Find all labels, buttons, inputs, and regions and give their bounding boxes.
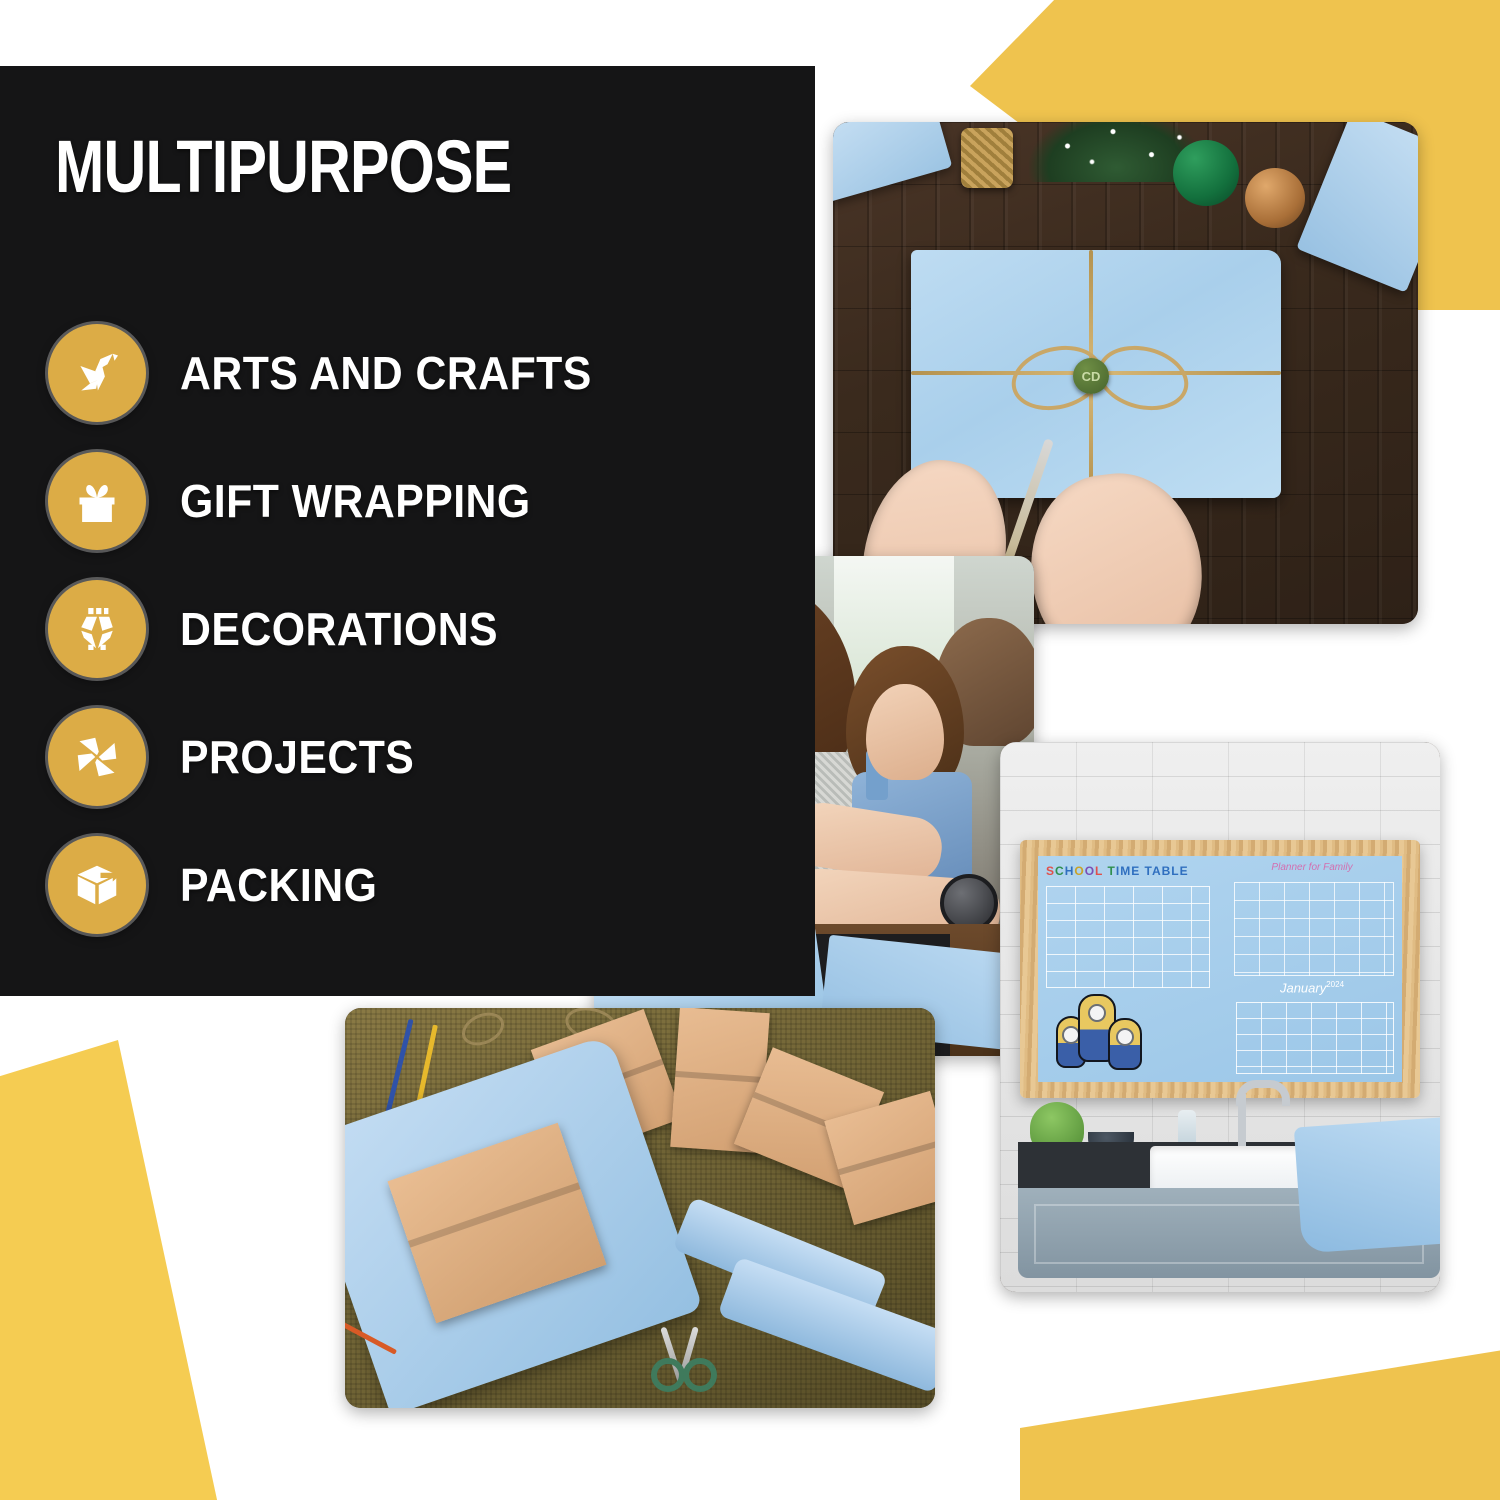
calendar-grid bbox=[1236, 1002, 1394, 1074]
gift-box-icon bbox=[69, 473, 125, 529]
feature-item-arts-and-crafts[interactable]: ARTS AND CRAFTS bbox=[48, 319, 788, 427]
feature-label: GIFT WRAPPING bbox=[180, 474, 531, 528]
pinwheel-badge bbox=[48, 708, 146, 806]
scissors-icon bbox=[641, 1326, 721, 1390]
origami-crane-badge bbox=[48, 324, 146, 422]
calendar-year: 2024 bbox=[1326, 980, 1344, 989]
timetable-half: SCHOOL TIME TABLE bbox=[1038, 856, 1218, 1082]
timetable-grid bbox=[1046, 886, 1210, 988]
feature-label: ARTS AND CRAFTS bbox=[180, 346, 592, 400]
feature-label: DECORATIONS bbox=[180, 602, 498, 656]
packing-photo bbox=[345, 1008, 935, 1408]
planner-title: Planner for Family bbox=[1271, 862, 1352, 873]
minion-small-right bbox=[1108, 1018, 1142, 1070]
gift-box-badge bbox=[48, 452, 146, 550]
school-timetable-title: SCHOOL TIME TABLE bbox=[1046, 864, 1189, 878]
planner-grid bbox=[1234, 882, 1394, 976]
whiteboard-surface: SCHOOL TIME TABLE Planner for Family bbox=[1038, 856, 1402, 1082]
feature-panel: MULTIPURPOSE ARTS AND CRAFTS bbox=[0, 66, 815, 996]
feature-label: PROJECTS bbox=[180, 730, 414, 784]
kitchen-whiteboard-photo: SCHOOL TIME TABLE Planner for Family bbox=[1000, 742, 1440, 1292]
minion-eye bbox=[1116, 1028, 1134, 1046]
wax-seal: CD bbox=[1073, 358, 1109, 394]
scissors-ring-right bbox=[683, 1358, 717, 1392]
scissors-ring-left bbox=[651, 1358, 685, 1392]
wood-frame: SCHOOL TIME TABLE Planner for Family bbox=[1020, 840, 1420, 1098]
green-ornament-ball bbox=[1173, 140, 1239, 206]
feature-item-decorations[interactable]: DECORATIONS bbox=[48, 575, 788, 683]
calendar-title: January2024 bbox=[1280, 980, 1344, 995]
calendar-month: January bbox=[1280, 980, 1326, 995]
gold-ornament-ball bbox=[1245, 168, 1305, 228]
packing-box-icon bbox=[69, 857, 125, 913]
origami-crane-icon bbox=[69, 345, 125, 401]
blue-paper-roll bbox=[1294, 1117, 1440, 1254]
product-feature-graphic: CD bbox=[0, 0, 1500, 1500]
twine-spool bbox=[961, 128, 1013, 188]
packing-box-badge bbox=[48, 836, 146, 934]
feature-list: ARTS AND CRAFTS GIFT WRAPPING bbox=[48, 319, 788, 959]
minion-characters bbox=[1056, 994, 1148, 1072]
minion-eye bbox=[1088, 1004, 1106, 1022]
feature-item-gift-wrapping[interactable]: GIFT WRAPPING bbox=[48, 447, 788, 555]
feature-item-packing[interactable]: PACKING bbox=[48, 831, 788, 939]
planner-half: Planner for Family January2024 bbox=[1222, 856, 1402, 1082]
paper-lantern-badge bbox=[48, 580, 146, 678]
feature-label: PACKING bbox=[180, 858, 377, 912]
feature-item-projects[interactable]: PROJECTS bbox=[48, 703, 788, 811]
child-girl-face bbox=[866, 684, 944, 780]
gift-wrapping-photo: CD bbox=[833, 122, 1418, 624]
page-title: MULTIPURPOSE bbox=[55, 130, 511, 204]
paper-lantern-icon bbox=[69, 601, 125, 657]
pinwheel-icon bbox=[69, 729, 125, 785]
bottom-left-yellow-shape bbox=[0, 1040, 230, 1500]
